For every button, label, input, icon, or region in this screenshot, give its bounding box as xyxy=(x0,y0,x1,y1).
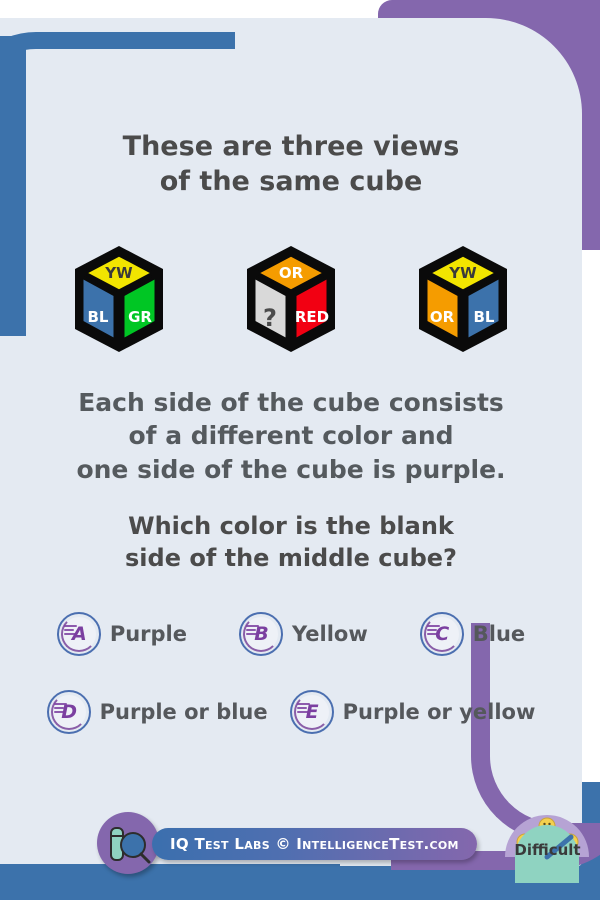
option-badge-c-icon[interactable]: C xyxy=(420,612,464,656)
question-line-2: side of the middle cube? xyxy=(0,542,582,574)
option-label-c: Blue xyxy=(473,622,525,646)
answer-option-c[interactable]: C Blue xyxy=(420,612,525,656)
statement-line-2: of a different color and xyxy=(0,419,582,452)
option-label-e: Purple or yellow xyxy=(343,700,536,724)
answer-option-d[interactable]: D Purple or blue xyxy=(47,690,268,734)
option-letter-c: C xyxy=(435,623,448,645)
answer-option-b[interactable]: B Yellow xyxy=(239,612,368,656)
brand-text: IQ Test Labs © IntelligenceTest.com xyxy=(170,835,459,853)
page-title-line-2: of the same cube xyxy=(0,165,582,200)
difficulty-label: Difficult xyxy=(495,841,600,859)
answer-option-a[interactable]: A Purple xyxy=(57,612,187,656)
statement-line-1: Each side of the cube consists xyxy=(0,386,582,419)
option-badge-d-icon[interactable]: D xyxy=(47,690,91,734)
option-label-b: Yellow xyxy=(292,622,368,646)
question-line-1: Which color is the blank xyxy=(0,510,582,542)
option-badge-e-icon[interactable]: E xyxy=(290,690,334,734)
cube-left: YW BL GR xyxy=(70,243,168,355)
cube-middle-top-label: OR xyxy=(279,264,304,282)
cube-left-graphic: YW BL GR xyxy=(70,243,168,355)
option-letter-d: D xyxy=(61,701,76,723)
cube-right: YW OR BL xyxy=(414,243,512,355)
cube-views: YW BL GR OR ? RED YW O xyxy=(0,243,582,361)
option-letter-e: E xyxy=(306,701,318,723)
iq-logo-graphic xyxy=(97,812,159,874)
cube-right-left-label: OR xyxy=(430,308,455,326)
answer-options-row-1: A Purple B Yellow C Blue xyxy=(0,612,582,656)
brand-pill[interactable]: IQ Test Labs © IntelligenceTest.com xyxy=(152,828,477,860)
option-letter-a: A xyxy=(72,623,86,645)
cube-right-graphic: YW OR BL xyxy=(414,243,512,355)
cube-left-right-label: GR xyxy=(128,308,152,326)
answer-options-row-2: D Purple or blue E Purple or yellow xyxy=(0,690,582,734)
answer-option-e[interactable]: E Purple or yellow xyxy=(290,690,536,734)
page-title: These are three views of the same cube xyxy=(0,130,582,199)
cube-left-left-label: BL xyxy=(88,308,109,326)
difficulty-badge: Difficult xyxy=(495,795,600,885)
cube-right-right-label: BL xyxy=(474,308,495,326)
option-badge-a-icon[interactable]: A xyxy=(57,612,101,656)
cube-middle-graphic: OR ? RED xyxy=(242,243,340,355)
difficulty-gauge-graphic xyxy=(495,795,600,885)
option-badge-b-icon[interactable]: B xyxy=(239,612,283,656)
puzzle-question: Which color is the blank side of the mid… xyxy=(0,510,582,574)
decor-blue-footer-bar xyxy=(0,864,340,900)
statement-line-3: one side of the cube is purple. xyxy=(0,453,582,486)
cube-left-top-label: YW xyxy=(104,264,133,282)
cube-middle-unknown-label: ? xyxy=(263,304,277,332)
cube-middle-right-label: RED xyxy=(295,308,329,326)
option-letter-b: B xyxy=(254,623,267,645)
decor-blue-bracket-cap xyxy=(205,32,222,49)
cube-right-top-label: YW xyxy=(448,264,477,282)
puzzle-card: These are three views of the same cube Y… xyxy=(0,0,600,900)
puzzle-statement: Each side of the cube consists of a diff… xyxy=(0,386,582,486)
option-label-d: Purple or blue xyxy=(100,700,268,724)
iq-logo-icon xyxy=(97,812,159,874)
option-label-a: Purple xyxy=(110,622,187,646)
cube-middle: OR ? RED xyxy=(242,243,340,355)
page-title-line-1: These are three views xyxy=(0,130,582,165)
